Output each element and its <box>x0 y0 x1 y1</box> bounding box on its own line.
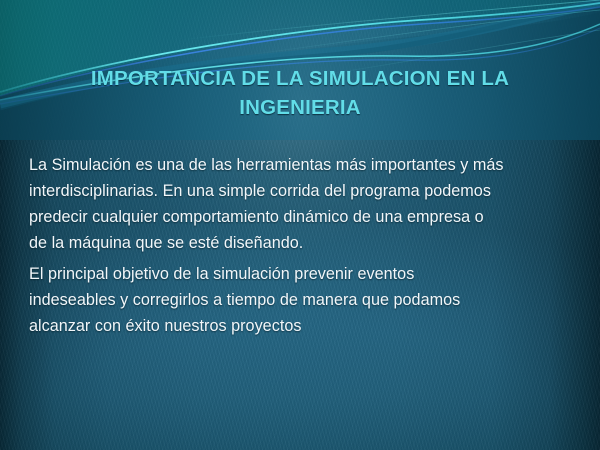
slide-title: IMPORTANCIA DE LA SIMULACION EN LA INGEN… <box>42 64 558 122</box>
body-paragraph: El principal objetivo de la simulación p… <box>29 261 504 339</box>
presentation-slide: IMPORTANCIA DE LA SIMULACION EN LA INGEN… <box>0 0 600 450</box>
slide-body: La Simulación es una de las herramientas… <box>29 152 504 339</box>
slide-content: IMPORTANCIA DE LA SIMULACION EN LA INGEN… <box>0 0 600 450</box>
body-paragraph: La Simulación es una de las herramientas… <box>29 152 504 256</box>
